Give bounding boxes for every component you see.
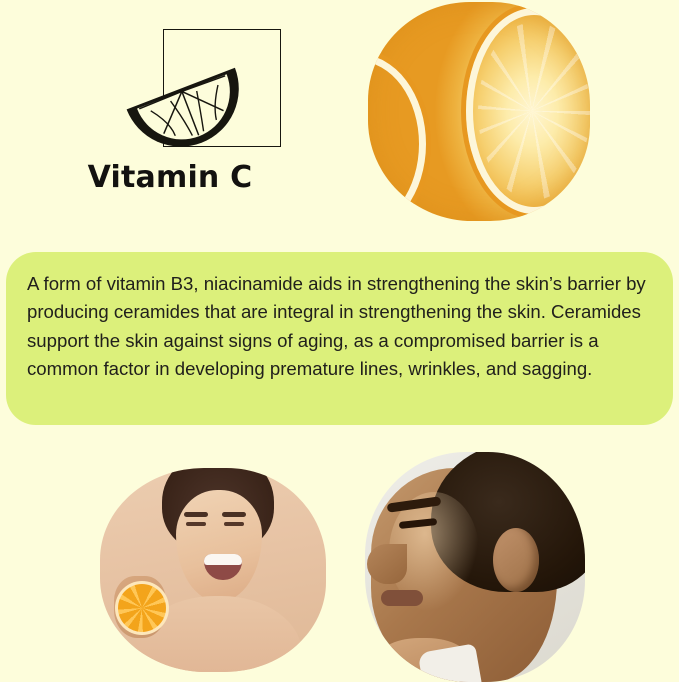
lemon-photo [368, 2, 590, 221]
woman-photo [100, 468, 326, 672]
woman-eye-right [224, 522, 244, 526]
woman-brow-left [184, 512, 208, 517]
lemon-left-rind [368, 54, 426, 221]
logo-title: Vitamin C [0, 160, 340, 195]
woman-eye-left [186, 522, 206, 526]
lemon-pulp-segments [478, 22, 590, 200]
description-text: A form of vitamin B3, niacinamide aids i… [27, 270, 647, 384]
lemon-slice-icon [118, 42, 250, 152]
orange-half-icon [118, 584, 166, 632]
product-infographic: Vitamin C A form of vitamin B3, niacinam… [0, 0, 679, 682]
vitamin-c-logo-block: Vitamin C [0, 0, 340, 240]
woman-teeth [204, 554, 242, 565]
man-ear [493, 528, 539, 592]
man-photo [365, 452, 585, 682]
man-nose [367, 544, 407, 584]
man-lips [381, 590, 423, 606]
woman-brow-right [222, 512, 246, 517]
woman-face [176, 490, 262, 602]
description-panel: A form of vitamin B3, niacinamide aids i… [6, 252, 673, 425]
